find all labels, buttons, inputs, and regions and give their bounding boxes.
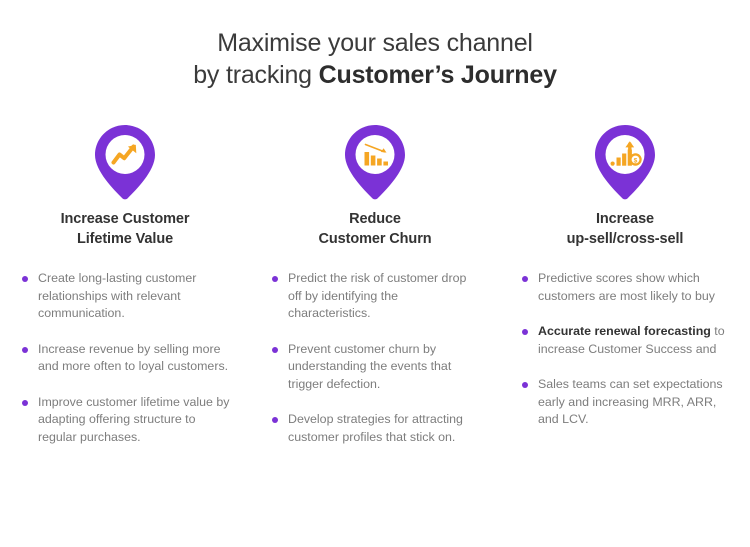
list-item-text: Increase revenue by selling more and mor… bbox=[38, 342, 228, 374]
list-item: Increase revenue by selling more and mor… bbox=[18, 341, 232, 376]
column-heading: Increase up-sell/cross-sell bbox=[518, 209, 732, 249]
bullet-dot-icon bbox=[22, 400, 28, 406]
bullet-dot-icon bbox=[22, 347, 28, 353]
bullet-dot-icon bbox=[522, 382, 528, 388]
bullet-dot-icon bbox=[272, 276, 278, 282]
feature-column-increase-customer-lifetime-value: Increase Customer Lifetime Value Create … bbox=[0, 124, 250, 462]
title-line-2: by tracking Customer’s Journey bbox=[0, 59, 750, 91]
list-item: Prevent customer churn by understanding … bbox=[268, 341, 482, 394]
list-item: Develop strategies for attracting custom… bbox=[268, 411, 482, 446]
svg-text:$: $ bbox=[634, 157, 638, 164]
column-heading-line-2: up-sell/cross-sell bbox=[518, 229, 732, 249]
bullet-dot-icon bbox=[272, 417, 278, 423]
feature-columns: Increase Customer Lifetime Value Create … bbox=[0, 124, 750, 462]
feature-column-increase-up-sell-cross-sell: $ Increase up-sell/cross-sell Predictive… bbox=[500, 124, 750, 445]
bullet-dot-icon bbox=[522, 329, 528, 335]
bullet-dot-icon bbox=[22, 276, 28, 282]
list-item: Create long-lasting customer relationshi… bbox=[18, 270, 232, 323]
feature-column-reduce-customer-churn: Reduce Customer Churn Predict the risk o… bbox=[250, 124, 500, 462]
list-item-emphasis: Accurate renewal forecasting bbox=[538, 324, 711, 338]
column-heading: Increase Customer Lifetime Value bbox=[18, 209, 232, 249]
list-item: Accurate renewal forecasting to increase… bbox=[518, 323, 732, 358]
list-item-text: Predictive scores show which customers a… bbox=[538, 271, 715, 303]
icon-container bbox=[18, 124, 232, 204]
list-item: Predictive scores show which customers a… bbox=[518, 270, 732, 305]
bullet-list: Predict the risk of customer drop off by… bbox=[268, 270, 482, 446]
icon-container: $ bbox=[518, 124, 732, 204]
bullet-dot-icon bbox=[272, 347, 278, 353]
map-pin-trending-up-arrow-icon bbox=[94, 124, 156, 200]
list-item: Sales teams can set expectations early a… bbox=[518, 376, 732, 429]
bullet-list: Predictive scores show which customers a… bbox=[518, 270, 732, 429]
title-line-2-emphasis: Customer’s Journey bbox=[319, 61, 557, 89]
list-item-text: Predict the risk of customer drop off by… bbox=[288, 271, 466, 320]
title-line-1: Maximise your sales channel bbox=[0, 27, 750, 59]
map-pin-declining-bar-chart-icon bbox=[344, 124, 406, 200]
column-heading-line-2: Lifetime Value bbox=[18, 229, 232, 249]
list-item-text: Sales teams can set expectations early a… bbox=[538, 377, 723, 426]
title-line-2-prefix: by tracking bbox=[193, 61, 318, 89]
list-item-text: Improve customer lifetime value by adapt… bbox=[38, 395, 229, 444]
list-item-text: Create long-lasting customer relationshi… bbox=[38, 271, 196, 320]
map-pin-growing-bar-chart-dollar-icon: $ bbox=[594, 124, 656, 200]
page-title: Maximise your sales channel by tracking … bbox=[0, 0, 750, 91]
list-item-text: Prevent customer churn by understanding … bbox=[288, 342, 451, 391]
list-item: Improve customer lifetime value by adapt… bbox=[18, 394, 232, 447]
icon-container bbox=[268, 124, 482, 204]
column-heading-line-2: Customer Churn bbox=[268, 229, 482, 249]
column-heading-line-1: Increase bbox=[518, 209, 732, 229]
list-item-text: Develop strategies for attracting custom… bbox=[288, 412, 463, 444]
bullet-list: Create long-lasting customer relationshi… bbox=[18, 270, 232, 446]
column-heading-line-1: Increase Customer bbox=[18, 209, 232, 229]
list-item: Predict the risk of customer drop off by… bbox=[268, 270, 482, 323]
column-heading: Reduce Customer Churn bbox=[268, 209, 482, 249]
bullet-dot-icon bbox=[522, 276, 528, 282]
column-heading-line-1: Reduce bbox=[268, 209, 482, 229]
